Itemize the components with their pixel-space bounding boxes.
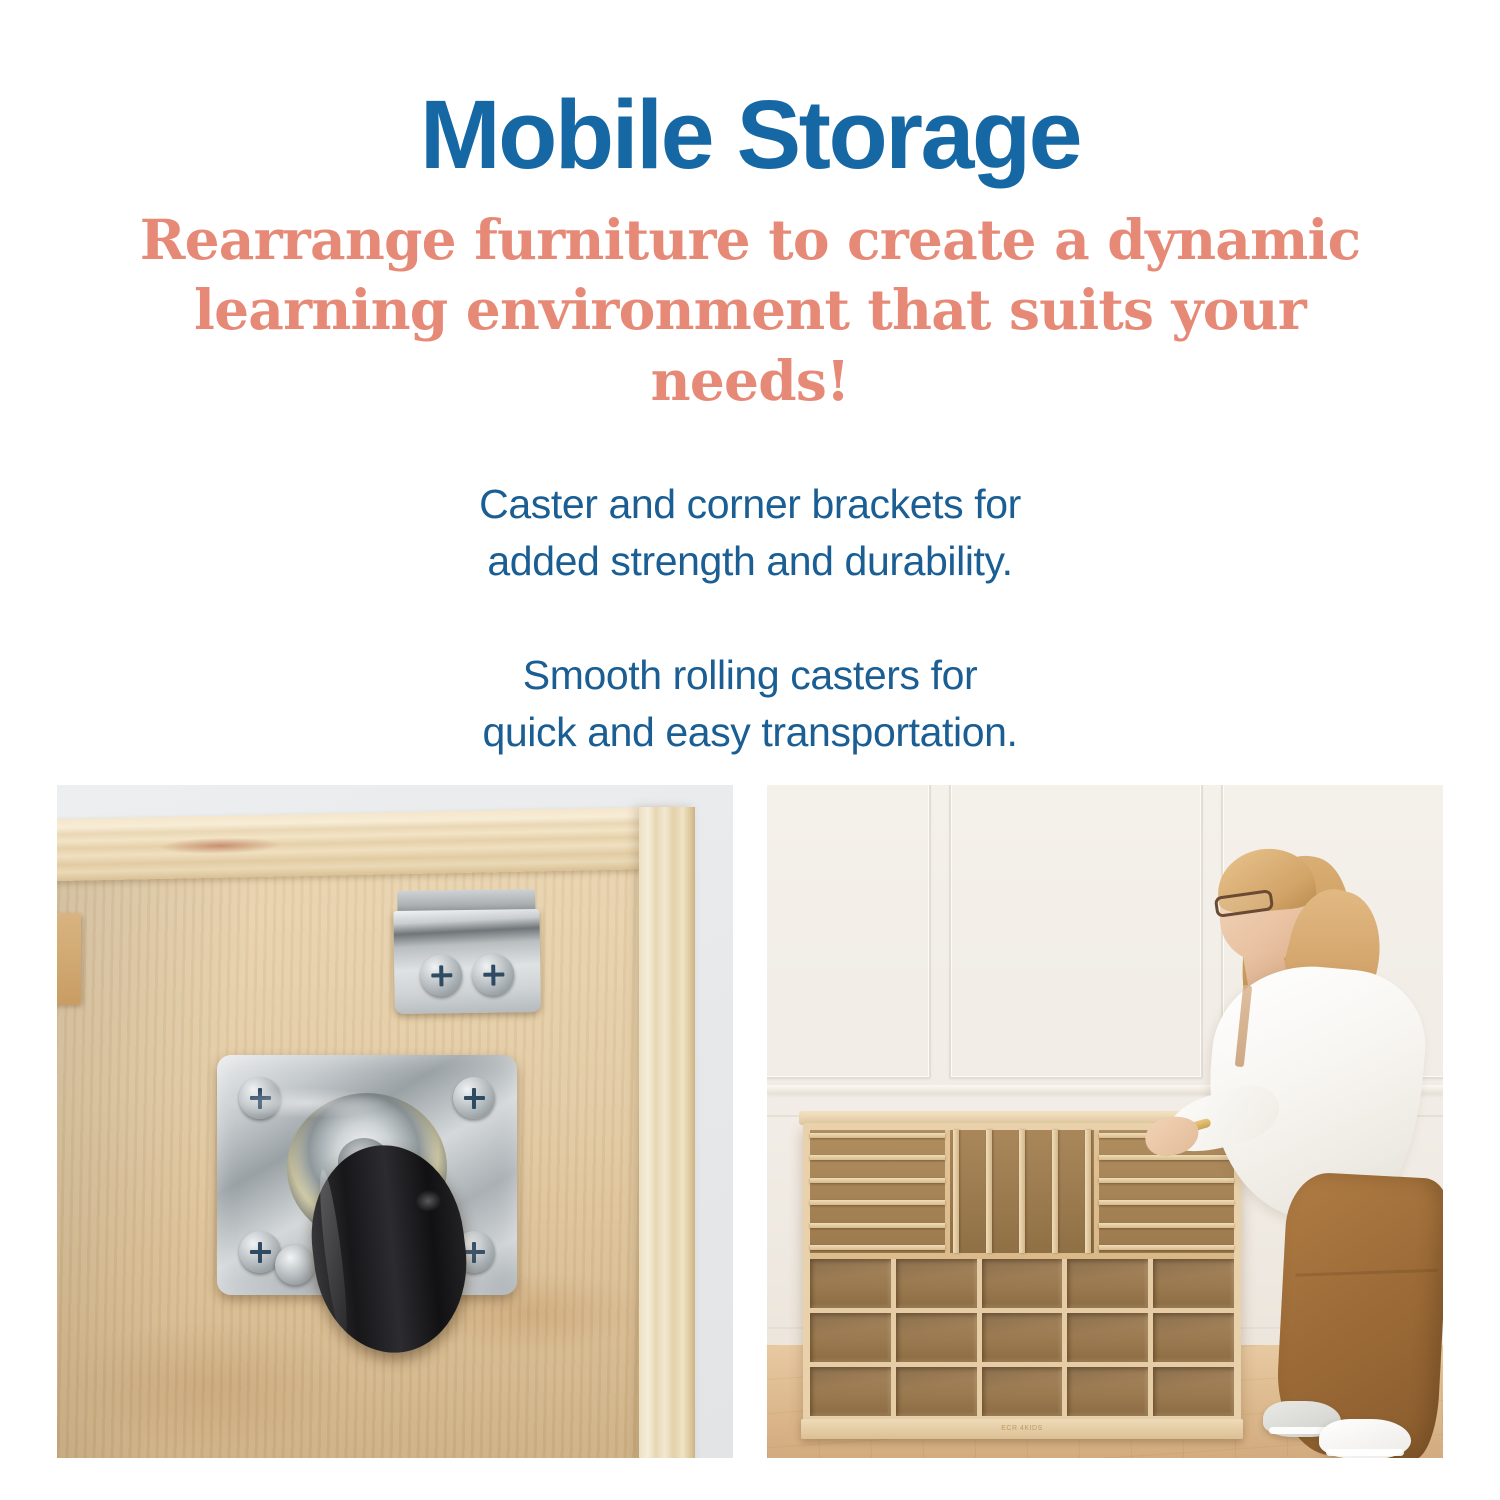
cubby-cell bbox=[982, 1259, 1063, 1308]
cubby-cell bbox=[810, 1313, 891, 1362]
paper-shelf bbox=[810, 1223, 945, 1228]
cubby-cell bbox=[1067, 1367, 1148, 1416]
vertical-divider bbox=[1019, 1130, 1025, 1253]
feature-2-line-2: quick and easy transportation. bbox=[0, 704, 1500, 761]
cubby-cell bbox=[1067, 1259, 1148, 1308]
corner-bracket bbox=[393, 889, 541, 1014]
page-title: Mobile Storage bbox=[0, 86, 1500, 183]
brand-logo: ECR 4KIDS bbox=[1001, 1425, 1042, 1432]
feature-2-line-1: Smooth rolling casters for bbox=[0, 647, 1500, 704]
feature-1-line-1: Caster and corner brackets for bbox=[0, 476, 1500, 533]
text-block: Mobile Storage Rearrange furniture to cr… bbox=[0, 0, 1500, 760]
feature-text-casters-brackets: Caster and corner brackets for added str… bbox=[0, 476, 1500, 589]
bracket-face-plate bbox=[393, 909, 540, 1014]
subheading-line-2: learning environment that suits your nee… bbox=[100, 275, 1400, 416]
plywood-ledge bbox=[57, 913, 81, 1005]
cubby-cell bbox=[810, 1259, 891, 1308]
sneaker-front bbox=[1319, 1419, 1411, 1458]
cubby-cell bbox=[810, 1367, 891, 1416]
wall-panel-2 bbox=[949, 785, 1203, 1079]
paper-shelf bbox=[810, 1245, 945, 1250]
cubby-cell bbox=[982, 1313, 1063, 1362]
photo-room-scene: ECR 4KIDS bbox=[767, 785, 1443, 1458]
paper-shelf bbox=[810, 1155, 945, 1160]
swivel-caster bbox=[217, 1055, 517, 1385]
paper-shelf bbox=[810, 1133, 945, 1138]
paper-shelf bbox=[810, 1178, 945, 1183]
paper-shelf bbox=[810, 1200, 945, 1205]
subheading-line-1: Rearrange furniture to create a dynamic bbox=[100, 205, 1400, 275]
photo-row: ECR 4KIDS bbox=[57, 785, 1443, 1458]
cubby-cell bbox=[1067, 1313, 1148, 1362]
vertical-divider bbox=[986, 1130, 992, 1253]
vertical-divider-slots bbox=[950, 1130, 1094, 1253]
feature-1-line-2: added strength and durability. bbox=[0, 533, 1500, 590]
paper-slots-left bbox=[810, 1130, 945, 1253]
cubby-cell bbox=[982, 1367, 1063, 1416]
cubby-cell bbox=[896, 1367, 977, 1416]
vertical-divider bbox=[1085, 1130, 1091, 1253]
photo-caster-detail bbox=[57, 785, 733, 1458]
cubby-cell bbox=[896, 1313, 977, 1362]
plywood-top-rail bbox=[57, 807, 674, 882]
bracket-screw-left bbox=[420, 954, 463, 997]
subheading: Rearrange furniture to create a dynamic … bbox=[100, 205, 1400, 416]
plywood-corner-post bbox=[639, 807, 695, 1458]
wall-panel-1 bbox=[767, 785, 931, 1079]
feature-text-smooth-rolling: Smooth rolling casters for quick and eas… bbox=[0, 647, 1500, 760]
cubby-cell bbox=[896, 1259, 977, 1308]
caster-axle-left bbox=[275, 1245, 315, 1285]
vertical-divider bbox=[1052, 1130, 1058, 1253]
caster-screw-top-right bbox=[453, 1077, 495, 1119]
caster-screw-top-left bbox=[239, 1077, 281, 1119]
bracket-screw-right bbox=[472, 953, 515, 996]
person-pushing-unit bbox=[1171, 845, 1443, 1458]
vertical-divider bbox=[953, 1130, 959, 1253]
